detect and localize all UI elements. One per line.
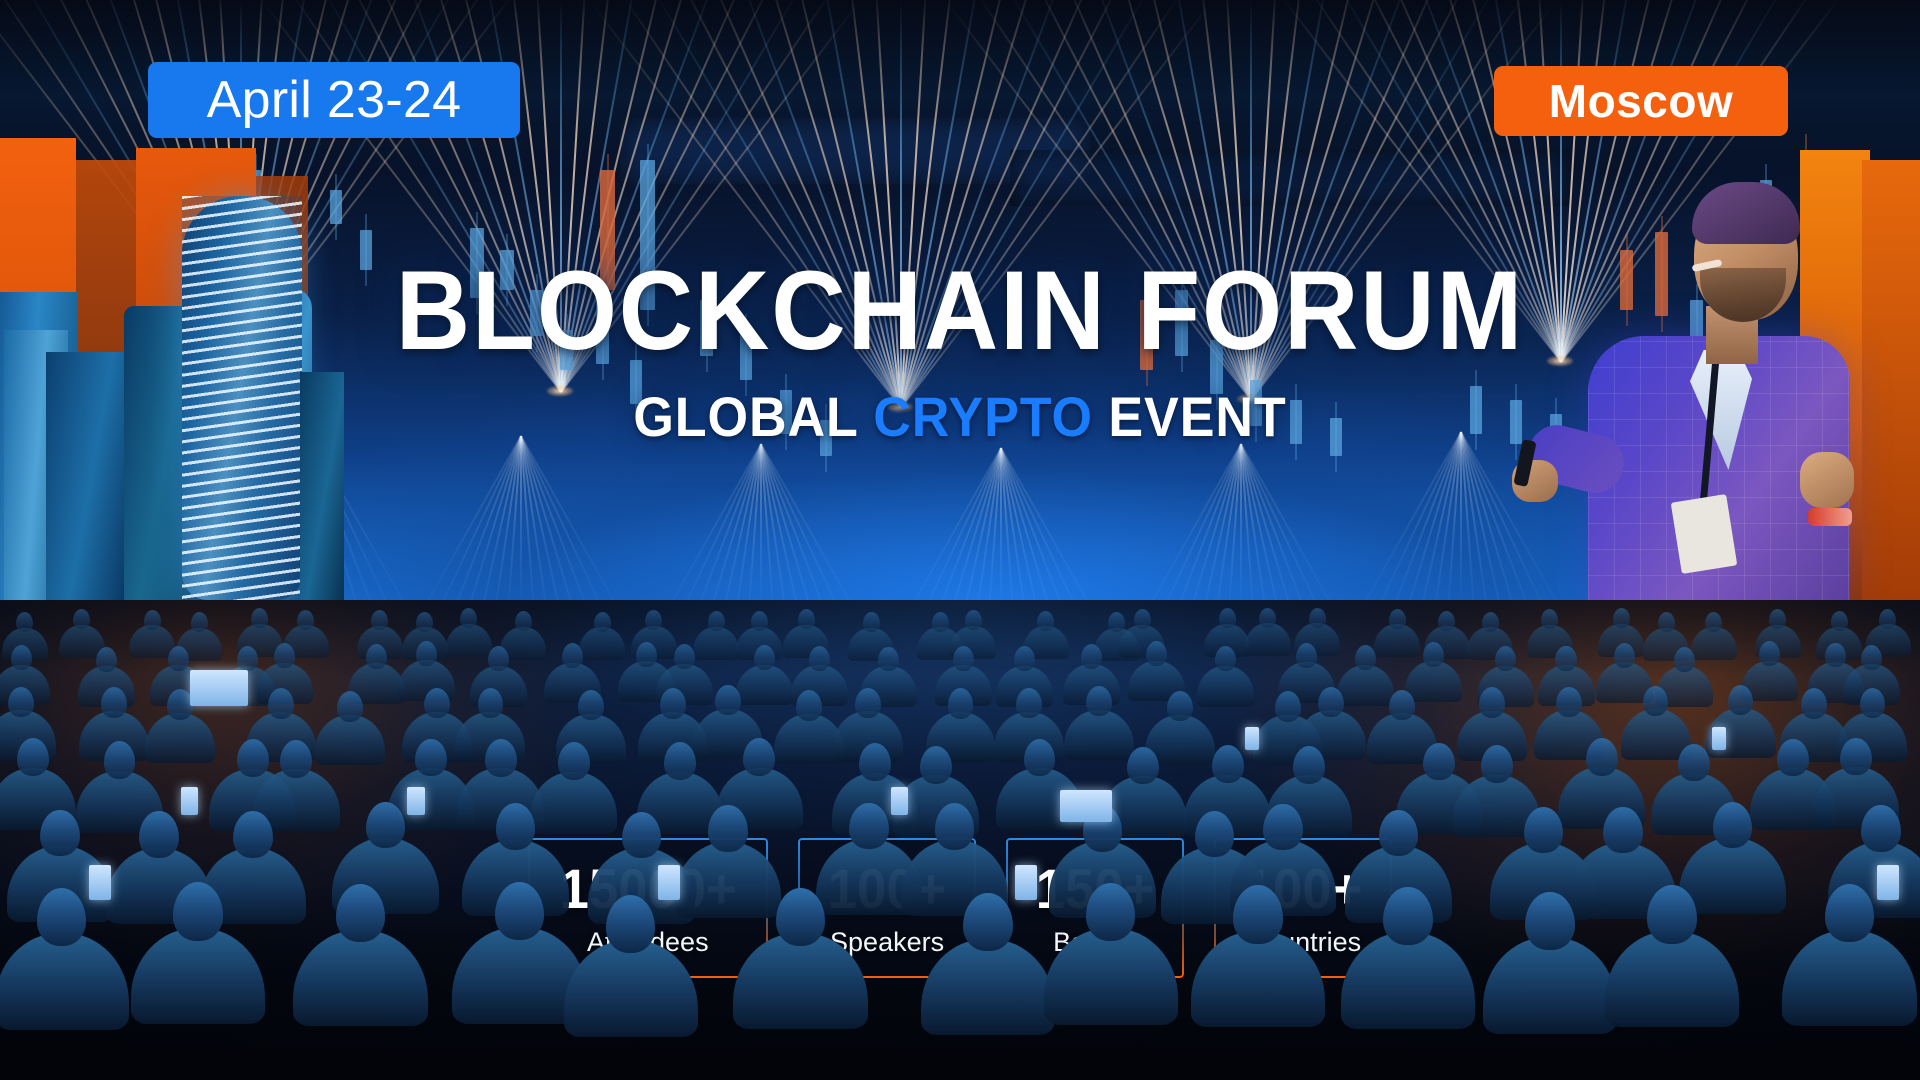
page-title: BLOCKCHAIN FORUM: [77, 255, 1843, 367]
audience-member-head: [104, 741, 136, 779]
audience-member-head: [594, 612, 611, 632]
audience-member-head: [965, 610, 982, 630]
stage-light-ray: [760, 444, 762, 602]
audience-member-head: [233, 811, 272, 857]
audience-member-head: [920, 746, 952, 784]
audience-member-head: [139, 811, 178, 857]
audience-member-head: [1309, 608, 1326, 628]
audience-member: [530, 772, 616, 834]
audience-member-head: [1037, 611, 1054, 631]
audience-member-head: [1713, 802, 1752, 848]
audience-member-head: [1831, 611, 1848, 631]
city-badge[interactable]: Moscow: [1494, 66, 1788, 136]
stage-light-ray: [1460, 432, 1462, 602]
audience-member-head: [660, 688, 686, 718]
audience-member-head: [948, 688, 974, 718]
audience-member-head: [144, 610, 161, 630]
attendee-phone-screen: [407, 787, 424, 815]
audience-member: [1691, 627, 1737, 660]
stage-light-fan: [1238, 444, 1242, 602]
audience-member-head: [664, 742, 696, 780]
subtitle: GLOBAL CRYPTO EVENT: [67, 389, 1853, 445]
audience-member-head: [237, 739, 269, 777]
stage-light-fan: [998, 448, 1002, 602]
audience-member-head: [1215, 646, 1236, 671]
audience-member-head: [1861, 805, 1900, 851]
audience-member-head: [274, 643, 295, 668]
audience-member-head: [1525, 892, 1575, 950]
stage-light-ray: [520, 436, 522, 602]
date-badge[interactable]: April 23-24: [148, 62, 520, 138]
audience-member-head: [1658, 612, 1675, 632]
audience-member-head: [1212, 745, 1244, 783]
audience-member-head: [1614, 643, 1635, 668]
audience-member-head: [251, 608, 268, 628]
audience-member-head: [1603, 807, 1642, 853]
speaker-hair: [1692, 182, 1800, 244]
audience-member-head: [1556, 687, 1582, 717]
date-badge-label: April 23-24: [207, 74, 462, 126]
audience-member-head: [1423, 642, 1444, 667]
audience-member-head: [1389, 690, 1415, 720]
speaker-right-hand: [1800, 452, 1854, 508]
audience-member: [1374, 624, 1420, 657]
audience-member-head: [1674, 647, 1695, 672]
audience-member-head: [1086, 686, 1112, 716]
audience-member-head: [488, 646, 509, 671]
audience-member-head: [674, 644, 695, 669]
candlestick-wick: [335, 174, 337, 240]
audience-member-head: [751, 611, 768, 631]
audience-member-head: [708, 805, 747, 851]
audience-member-head: [1840, 738, 1872, 776]
audience-member-head: [932, 612, 949, 632]
audience-member-head: [237, 646, 258, 671]
audience-member: [1245, 623, 1291, 656]
audience-member-head: [268, 688, 294, 718]
audience-member: [1064, 710, 1134, 760]
audience-member-head: [1233, 885, 1283, 943]
audience-member-head: [636, 642, 657, 667]
audience-member-head: [1879, 609, 1896, 629]
audience-member-head: [863, 612, 880, 632]
audience-member-head: [963, 893, 1013, 951]
audience-member-head: [1259, 608, 1276, 628]
audience-member-head: [622, 812, 661, 858]
audience-member-head: [798, 609, 815, 629]
audience-member-head: [1481, 745, 1513, 783]
audience-member-head: [878, 647, 899, 672]
audience-member-head: [1613, 608, 1630, 628]
audience-member-head: [1383, 887, 1433, 945]
audience-member: [693, 627, 739, 660]
audience-member-head: [708, 611, 725, 631]
audience-member-head: [1167, 691, 1193, 721]
audience-member-head: [1081, 644, 1102, 669]
audience-member-head: [17, 738, 49, 776]
attendee-phone-screen: [89, 865, 111, 900]
audience-member-head: [416, 612, 433, 632]
audience-member-head: [1479, 687, 1505, 717]
attendee-phone-screen: [1712, 727, 1726, 750]
audience-member-head: [16, 612, 33, 632]
audience-member: [145, 713, 215, 763]
audience-member-head: [558, 742, 590, 780]
audience-member-head: [715, 685, 741, 715]
audience-member-head: [1134, 609, 1151, 629]
audience-member-head: [1014, 646, 1035, 671]
audience-member-head: [859, 743, 891, 781]
subtitle-accent: CRYPTO: [873, 385, 1093, 448]
audience-member-head: [11, 645, 32, 670]
audience-member-head: [1555, 646, 1576, 671]
stage-light-fan: [1458, 432, 1462, 602]
audience-member-head: [1263, 804, 1302, 850]
audience-member-head: [40, 810, 79, 856]
audience-member-head: [1293, 746, 1325, 784]
audience-member-head: [1801, 688, 1827, 718]
audience-member-head: [1861, 645, 1882, 670]
speaker-wristband: [1808, 508, 1852, 526]
audience-member-head: [1379, 810, 1418, 856]
audience-member-head: [1482, 612, 1499, 632]
audience-member-head: [424, 688, 450, 718]
audience-member-head: [1860, 688, 1886, 718]
audience-member-head: [1495, 646, 1516, 671]
audience-member-head: [855, 688, 881, 718]
attendee-tablet-screen: [1060, 790, 1112, 822]
audience-member-head: [743, 738, 775, 776]
stage-light-fan: [758, 444, 762, 602]
subtitle-part2: EVENT: [1108, 385, 1286, 448]
attendee-phone-screen: [181, 787, 198, 815]
audience-member-head: [809, 646, 830, 671]
audience-member-head: [167, 689, 193, 719]
audience-member-head: [1541, 609, 1558, 629]
audience-member-head: [496, 803, 535, 849]
audience-member-head: [849, 803, 888, 849]
audience-member-head: [1777, 739, 1809, 777]
audience-member-head: [1759, 641, 1780, 666]
attendee-phone-screen: [658, 865, 680, 900]
title-block: BLOCKCHAIN FORUM GLOBAL CRYPTO EVENT: [0, 255, 1920, 445]
audience-member-head: [1524, 807, 1563, 853]
audience-member-head: [1705, 612, 1722, 632]
attendee-tablet-screen: [190, 670, 248, 706]
audience-member-head: [935, 803, 974, 849]
subtitle-part1: GLOBAL: [633, 385, 858, 448]
audience-member-head: [460, 608, 477, 628]
audience-member-head: [796, 690, 822, 720]
audience-member-head: [562, 643, 583, 668]
stage-light-fan: [518, 436, 522, 602]
audience-member-head: [297, 610, 314, 630]
audience-member-head: [1586, 738, 1618, 776]
audience-member-head: [485, 739, 517, 777]
audience-member: [315, 715, 385, 765]
audience-member-head: [1016, 688, 1042, 718]
attendee-phone-screen: [1877, 865, 1899, 900]
audience-member-head: [173, 882, 223, 940]
audience-member-head: [415, 739, 447, 777]
audience-member-head: [953, 646, 974, 671]
audience-member-head: [1275, 691, 1301, 721]
audience-member-head: [168, 646, 189, 671]
audience-member-head: [1355, 645, 1376, 670]
audience-member-head: [515, 611, 532, 631]
audience-member: [1197, 666, 1254, 707]
attendee-phone-screen: [1015, 865, 1037, 900]
speaker-badge-card: [1671, 494, 1738, 574]
audience-member-head: [578, 690, 604, 720]
audience-member: [1405, 661, 1462, 702]
audience-member-head: [337, 691, 363, 721]
audience-member-head: [1769, 609, 1786, 629]
audience-member-head: [1423, 743, 1455, 781]
audience-member-head: [366, 644, 387, 669]
stage-light-ray: [1240, 444, 1242, 602]
attendee-phone-screen: [891, 787, 908, 815]
audience-member-head: [96, 647, 117, 672]
audience-member: [736, 665, 793, 706]
audience-member-head: [1219, 608, 1236, 628]
event-banner: April 23-24 Moscow BLOCKCHAIN FORUM GLOB…: [0, 0, 1920, 1080]
audience-member-head: [478, 688, 504, 718]
audience-member-head: [191, 612, 208, 632]
audience-member-head: [1108, 612, 1125, 632]
attendee-phone-screen: [1245, 727, 1259, 750]
audience-member-head: [101, 687, 127, 717]
audience-member: [1337, 665, 1394, 706]
audience-member-head: [1647, 885, 1697, 943]
audience-member-head: [371, 610, 388, 630]
audience-member-head: [1389, 609, 1406, 629]
audience-member-head: [754, 645, 775, 670]
audience-member: [579, 627, 625, 660]
audience-member-head: [1318, 687, 1344, 717]
audience-member-head: [1146, 641, 1167, 666]
audience-member-head: [73, 609, 90, 629]
audience-member: [446, 624, 492, 657]
city-badge-label: Moscow: [1549, 78, 1733, 124]
audience-member-head: [1438, 611, 1455, 631]
audience-member-head: [645, 610, 662, 630]
audience-member-head: [1825, 643, 1846, 668]
